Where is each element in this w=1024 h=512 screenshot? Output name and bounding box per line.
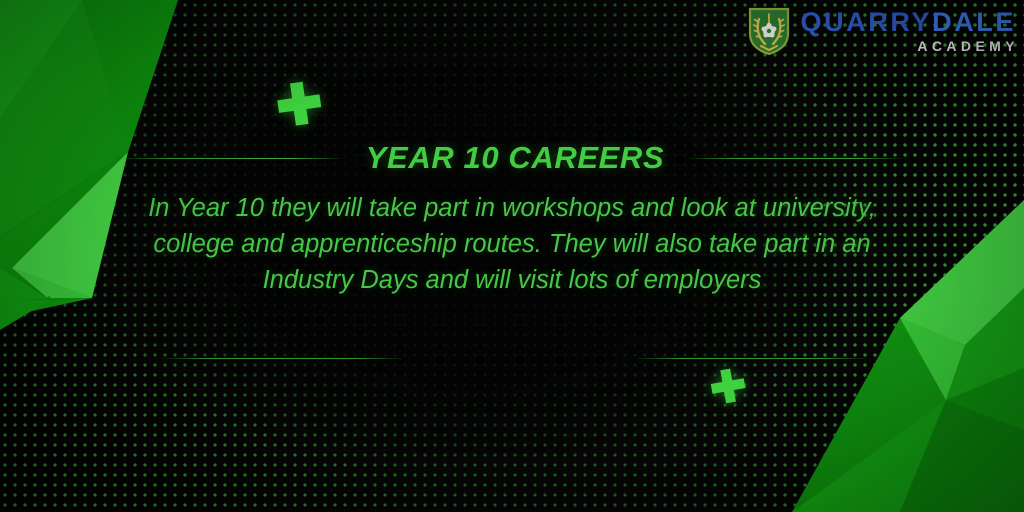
vignette-overlay (0, 0, 1024, 512)
careers-slide: QUARRYDALE ACADEMY YEAR 10 CAREERS In Ye… (0, 0, 1024, 512)
